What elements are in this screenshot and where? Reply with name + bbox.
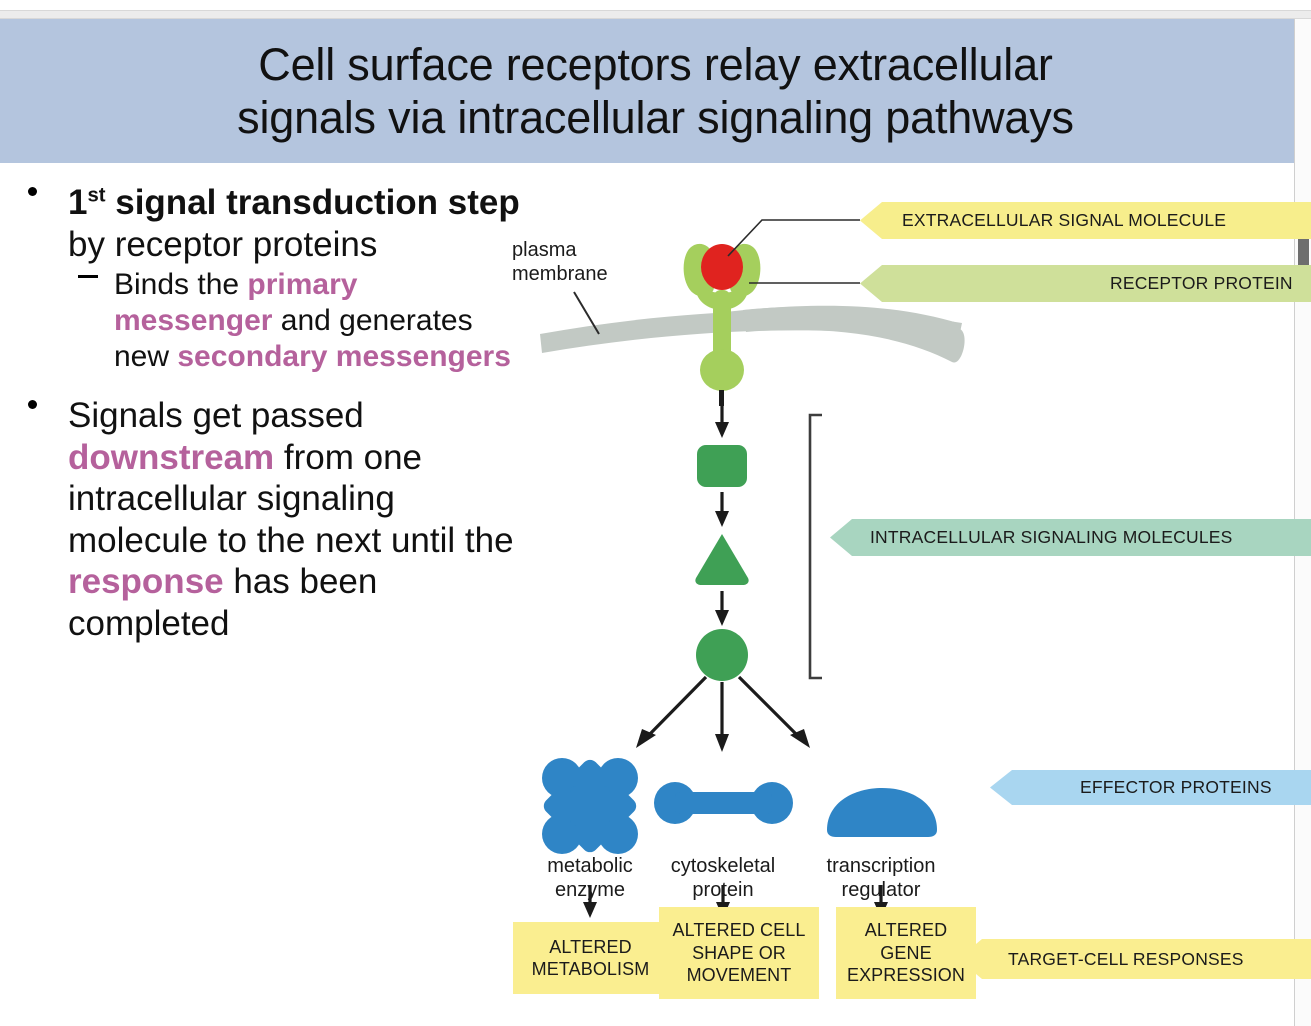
list-item: 1st signal transduction step by receptor… [0, 182, 520, 265]
plasma-membrane-label: plasma membrane [512, 238, 608, 286]
banner-label: INTRACELLULAR SIGNALING MOLECULES [870, 527, 1233, 548]
banner-label: EXTRACELLULAR SIGNAL MOLECULE [902, 210, 1226, 231]
divergent-arrows [636, 677, 810, 752]
arrow-to-triangle [715, 492, 729, 527]
response-line: GENE [847, 942, 965, 965]
window-top-strip [0, 0, 1311, 10]
response-line: ALTERED CELL [673, 919, 806, 942]
response-line: MOVEMENT [673, 964, 806, 987]
signaling-molecule-circle [696, 629, 748, 681]
arrow-to-circle [715, 591, 729, 626]
signaling-molecule-square [697, 445, 747, 487]
window-chrome-bar [0, 10, 1311, 19]
ligand-molecule-shape [701, 244, 743, 290]
banner-label: RECEPTOR PROTEIN [1110, 273, 1293, 294]
effector-transcription-regulator-shape [827, 788, 937, 837]
response-altered-gene-expression: ALTERED GENE EXPRESSION [836, 907, 976, 999]
response-altered-metabolism: ALTERED METABOLISM [513, 922, 668, 994]
banner-receptor-protein: RECEPTOR PROTEIN [860, 265, 1311, 302]
signaling-molecule-triangle [695, 534, 748, 585]
response-altered-cell-shape: ALTERED CELL SHAPE OR MOVEMENT [659, 907, 819, 999]
bullet-2-text: Signals get passed downstream from one i… [68, 395, 520, 644]
list-item: Binds the primary messenger and generate… [0, 267, 520, 375]
banner-label: EFFECTOR PROTEINS [1080, 777, 1272, 798]
effector-transcription-regulator-label: transcription regulator [801, 854, 961, 902]
response-line: ALTERED [847, 919, 965, 942]
response-line: ALTERED [532, 936, 650, 959]
banner-intracellular-signaling-molecules: INTRACELLULAR SIGNALING MOLECULES [830, 519, 1311, 556]
signal-transduction-diagram: plasma membrane EXTRACELLULAR SIGNAL MOL… [500, 182, 1311, 1026]
bullet-dot-icon [28, 187, 37, 196]
effector-cytoskeletal-protein-label: cytoskeletal protein [643, 854, 803, 902]
banner-target-cell-responses: TARGET-CELL RESPONSES [958, 939, 1311, 979]
response-line: SHAPE OR [673, 942, 806, 965]
sub-bullet-dash-icon [78, 275, 98, 278]
slide-title-banner: Cell surface receptors relay extracellul… [0, 19, 1311, 163]
sub-bullet-1-text: Binds the primary messenger and generate… [114, 267, 520, 375]
list-item: Signals get passed downstream from one i… [0, 395, 520, 644]
arrow-to-square [715, 400, 729, 438]
banner-label: TARGET-CELL RESPONSES [1008, 949, 1244, 970]
banner-effector-proteins: EFFECTOR PROTEINS [990, 770, 1311, 805]
response-line: METABOLISM [532, 958, 650, 981]
page-title-line-2: signals via intracellular signaling path… [237, 91, 1074, 144]
bullet-dot-icon [28, 400, 37, 409]
response-line: EXPRESSION [847, 964, 965, 987]
effector-cytoskeletal-protein-shape [654, 782, 793, 824]
bullet-1-text: 1st signal transduction step by receptor… [68, 182, 520, 265]
slide-body-bullets: 1st signal transduction step by receptor… [0, 182, 520, 942]
plasma-membrane-right [743, 306, 965, 362]
banner-extracellular-signal-molecule: EXTRACELLULAR SIGNAL MOLECULE [860, 202, 1311, 239]
effector-metabolic-enzyme-shape [541, 757, 640, 856]
signaling-molecules-bracket [810, 415, 822, 678]
page-title-line-1: Cell surface receptors relay extracellul… [258, 38, 1052, 91]
